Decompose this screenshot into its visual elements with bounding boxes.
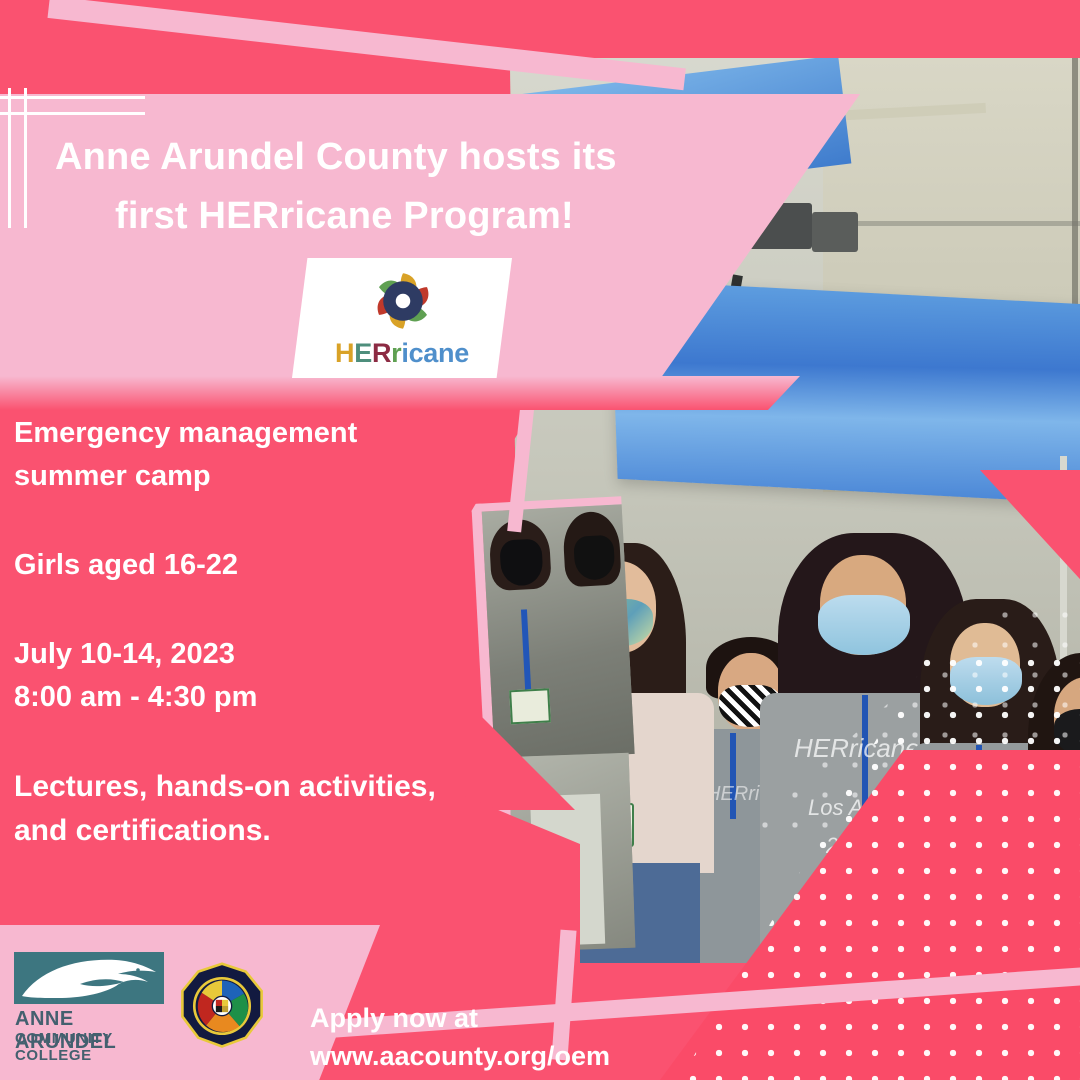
- logo-letter-h: H: [335, 338, 354, 368]
- aacc-logo: ANNE ARUNDEL COMMUNITY COLLEGE: [14, 952, 164, 1052]
- detail-line: Lectures, hands-on activities,: [14, 765, 484, 809]
- face-mask: [818, 595, 910, 655]
- detail-block-dates: July 10-14, 2023 8:00 am - 4:30 pm: [14, 633, 484, 719]
- headline-line-1: Anne Arundel County hosts its: [55, 136, 617, 178]
- detail-block-program: Emergency management summer camp: [14, 412, 484, 498]
- inset-photo-top: [471, 496, 634, 761]
- detail-block-age: Girls aged 16-22: [14, 544, 484, 587]
- herricane-program-flyer: HERricane: [0, 0, 1080, 1080]
- detail-line: 8:00 am - 4:30 pm: [14, 676, 484, 719]
- logo-letter-r: R: [372, 338, 391, 368]
- emergency-management-seal: [178, 962, 266, 1050]
- logo-letter-r2: r: [391, 338, 401, 368]
- detail-line: July 10-14, 2023: [14, 633, 484, 676]
- detail-line: summer camp: [14, 455, 484, 498]
- cta-url[interactable]: www.aacounty.org/oem: [310, 1038, 610, 1076]
- herricane-wordmark: HERricane: [292, 338, 512, 369]
- logo-letters-icane: icane: [401, 338, 469, 368]
- detail-block-activities: Lectures, hands-on activities, and certi…: [14, 765, 484, 854]
- hurricane-swirl-icon: [370, 268, 436, 334]
- page-title: Anne Arundel County hosts its first HERr…: [55, 128, 755, 246]
- cta-apply[interactable]: Apply now at www.aacounty.org/oem: [310, 1000, 610, 1076]
- aacc-name-line-2: COMMUNITY COLLEGE: [15, 1030, 164, 1064]
- detail-line: Emergency management: [14, 412, 484, 455]
- panel-gradient-band: [0, 376, 800, 410]
- wall-equipment-box-2: [812, 212, 858, 252]
- cta-line-1: Apply now at: [310, 1000, 610, 1038]
- headline-line-2: first HERricane Program!: [115, 187, 755, 246]
- detail-line: Girls aged 16-22: [14, 544, 484, 587]
- details-list: Emergency management summer camp Girls a…: [14, 412, 484, 899]
- logo-letter-e: E: [354, 338, 372, 368]
- detail-line: and certifications.: [14, 809, 484, 853]
- lanyard: [730, 733, 736, 819]
- seagull-mark: [20, 956, 160, 1002]
- herricane-logo-card: HERricane: [292, 258, 512, 378]
